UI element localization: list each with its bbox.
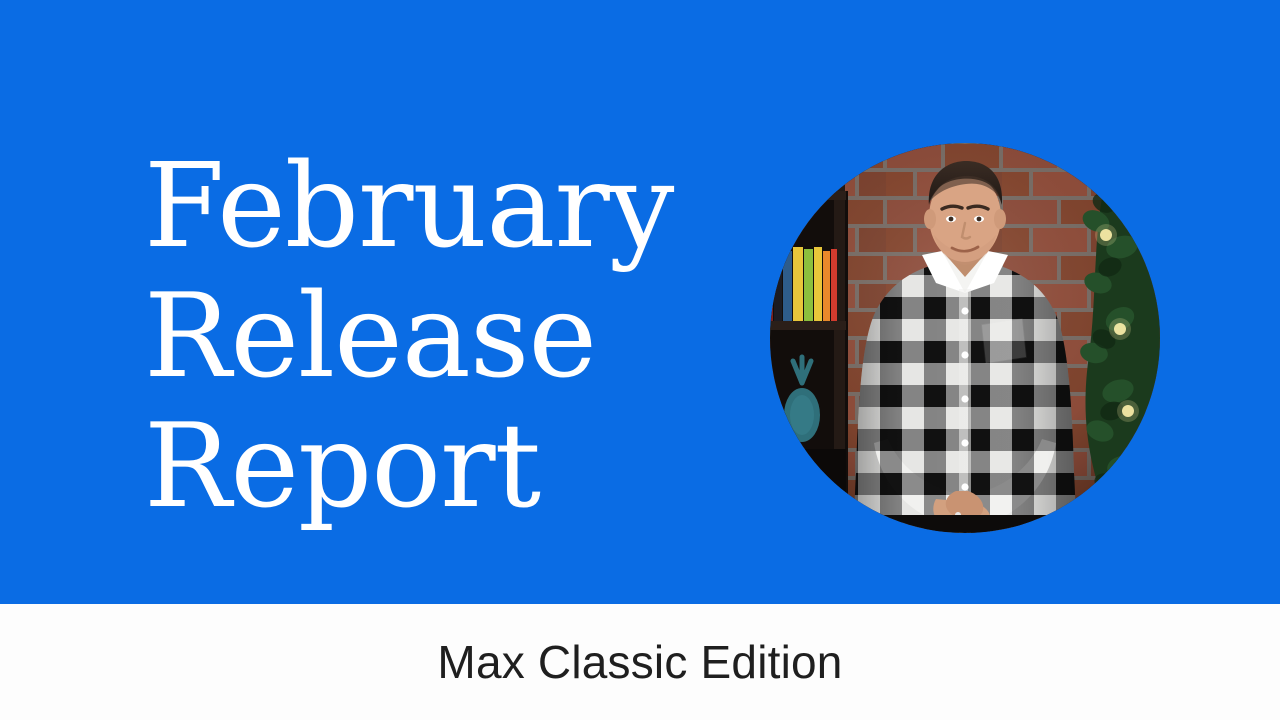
title-line-3: Report [144,402,744,532]
caption-label: Max Classic Edition [437,637,842,687]
caption-bar: Max Classic Edition [0,604,1280,720]
bookshelf [770,183,848,533]
title-line-2: Release [144,272,744,402]
title-line-1: February [144,142,744,272]
page-title: February Release Report [144,142,744,532]
hero-panel: February Release Report [0,0,1280,604]
portrait-photo [770,143,1160,533]
avatar [770,143,1160,533]
slide-canvas: February Release Report [0,0,1280,720]
